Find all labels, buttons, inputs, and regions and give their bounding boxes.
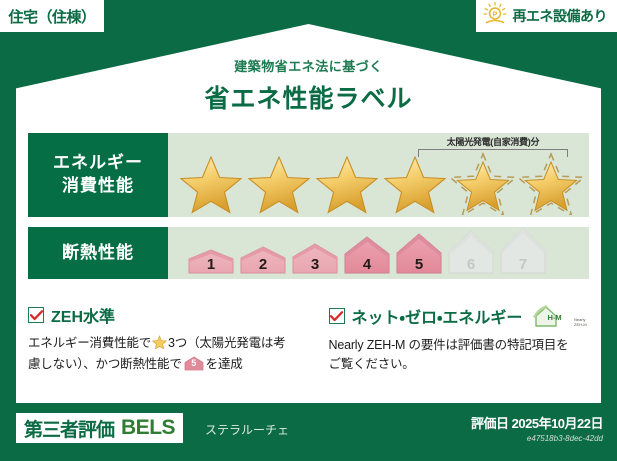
svg-text:P: P bbox=[492, 11, 497, 18]
energy-performance-label: 住宅（住棟） P 再エネ設備あり 建築物省エネ法に基づ bbox=[0, 0, 617, 461]
insulation-performance-row: 断熱性能 1 bbox=[28, 227, 589, 279]
building-name: ステラルーチェ bbox=[205, 421, 289, 438]
checkbox-checked-icon bbox=[28, 307, 44, 323]
insulation-level-2-number: 2 bbox=[238, 256, 288, 273]
insulation-level-3-number: 3 bbox=[290, 256, 340, 273]
third-party-eval-label: 第三者評価 bbox=[24, 415, 114, 442]
net-zero-energy-title: ネット・ゼロ・エネルギー bbox=[352, 304, 523, 328]
star-filled bbox=[178, 151, 244, 215]
title-block: 建築物省エネ法に基づく 省エネ性能ラベル bbox=[0, 56, 617, 115]
insulation-level-badge: 5 bbox=[184, 356, 204, 371]
net-zero-energy-heading: ネット・ゼロ・エネルギー H-M Nearly ZEH-M bbox=[329, 303, 578, 329]
building-type-label: 住宅（住棟） bbox=[8, 6, 95, 27]
renewable-equipment-tag: P 再エネ設備あり bbox=[476, 0, 617, 32]
insulation-level-6: 6 bbox=[446, 228, 496, 279]
net-zero-energy-block: ネット・ゼロ・エネルギー H-M Nearly ZEH-M Nearly ZEH… bbox=[309, 303, 590, 375]
energy-performance-rating-area: 太陽光発電(自家消費)分 bbox=[168, 133, 589, 217]
insulation-level-badge-number: 5 bbox=[184, 357, 204, 371]
checkbox-checked-icon bbox=[329, 308, 345, 324]
sun-icon: P bbox=[482, 1, 508, 32]
zeh-m-house-icon: H-M Nearly ZEH-M bbox=[533, 303, 590, 329]
star-solar bbox=[450, 151, 516, 215]
evaluation-date-value: 2025年10月22日 bbox=[512, 416, 603, 431]
insulation-level-4: 4 bbox=[342, 232, 392, 279]
star-filled bbox=[382, 151, 448, 215]
insulation-rating-area: 1 2 3 bbox=[168, 227, 589, 279]
evaluation-info: 評価日 2025年10月22日 e47518b3-8dec-42dd bbox=[471, 413, 603, 443]
criteria-section: ZEH水準 エネルギー消費性能で3つ（太陽光発電は考慮しない）、かつ断熱性能で5… bbox=[28, 303, 589, 375]
renewable-tag-label: 再エネ設備あり bbox=[513, 6, 608, 26]
evaluation-date-label: 評価日 bbox=[471, 416, 509, 431]
evaluation-id: e47518b3-8dec-42dd bbox=[471, 434, 603, 443]
zeh-standard-title: ZEH水準 bbox=[51, 303, 115, 327]
building-type-tag: 住宅（住棟） bbox=[0, 0, 104, 32]
insulation-level-5: 5 bbox=[394, 230, 444, 279]
evaluation-date: 評価日 2025年10月22日 bbox=[471, 413, 603, 432]
page-title: 省エネ性能ラベル bbox=[0, 79, 617, 115]
zeh-standard-block: ZEH水準 エネルギー消費性能で3つ（太陽光発電は考慮しない）、かつ断熱性能で5… bbox=[28, 303, 309, 375]
svg-text:H-M: H-M bbox=[548, 313, 562, 322]
insulation-level-6-number: 6 bbox=[446, 256, 496, 273]
star-filled bbox=[246, 151, 312, 215]
star-filled bbox=[314, 151, 380, 215]
insulation-level-5-number: 5 bbox=[394, 256, 444, 273]
insulation-level-scale: 1 2 3 bbox=[186, 226, 548, 279]
insulation-level-7: 7 bbox=[498, 226, 548, 279]
insulation-level-3: 3 bbox=[290, 236, 340, 279]
insulation-level-1-number: 1 bbox=[186, 256, 236, 273]
zeh-desc-part3: を達成 bbox=[206, 357, 243, 371]
bels-logo-text: BELS bbox=[121, 416, 175, 440]
energy-label-line2: 消費性能 bbox=[62, 175, 134, 198]
energy-performance-row: エネルギー 消費性能 太陽光発電(自家消費)分 bbox=[28, 133, 589, 217]
zeh-standard-description: エネルギー消費性能で3つ（太陽光発電は考慮しない）、かつ断熱性能で5を達成 bbox=[28, 334, 297, 375]
star-rating bbox=[178, 151, 584, 215]
zeh-standard-heading: ZEH水準 bbox=[28, 303, 297, 327]
energy-label-line1: エネルギー bbox=[53, 152, 143, 175]
insulation-level-1: 1 bbox=[186, 240, 236, 279]
energy-performance-label-panel: エネルギー 消費性能 bbox=[28, 133, 168, 217]
bels-badge: 第三者評価 BELS bbox=[16, 413, 183, 443]
solar-annotation-label: 太陽光発電(自家消費)分 bbox=[418, 135, 568, 148]
net-zero-energy-description: Nearly ZEH-M の要件は評価書の特記項目をご覧ください。 bbox=[329, 336, 578, 375]
insulation-label: 断熱性能 bbox=[62, 242, 134, 265]
star-solar bbox=[518, 151, 584, 215]
insulation-level-2: 2 bbox=[238, 238, 288, 279]
insulation-level-4-number: 4 bbox=[342, 256, 392, 273]
svg-text:ZEH-M: ZEH-M bbox=[574, 322, 587, 327]
star-icon bbox=[152, 335, 167, 355]
zeh-desc-part1: エネルギー消費性能で bbox=[28, 336, 151, 350]
insulation-level-7-number: 7 bbox=[498, 256, 548, 273]
insulation-performance-label-panel: 断熱性能 bbox=[28, 227, 168, 279]
footer-bar: 第三者評価 BELS ステラルーチェ 評価日 2025年10月22日 e4751… bbox=[0, 403, 617, 461]
title-subtitle: 建築物省エネ法に基づく bbox=[0, 56, 617, 75]
performance-rows: エネルギー 消費性能 太陽光発電(自家消費)分 bbox=[28, 133, 589, 279]
